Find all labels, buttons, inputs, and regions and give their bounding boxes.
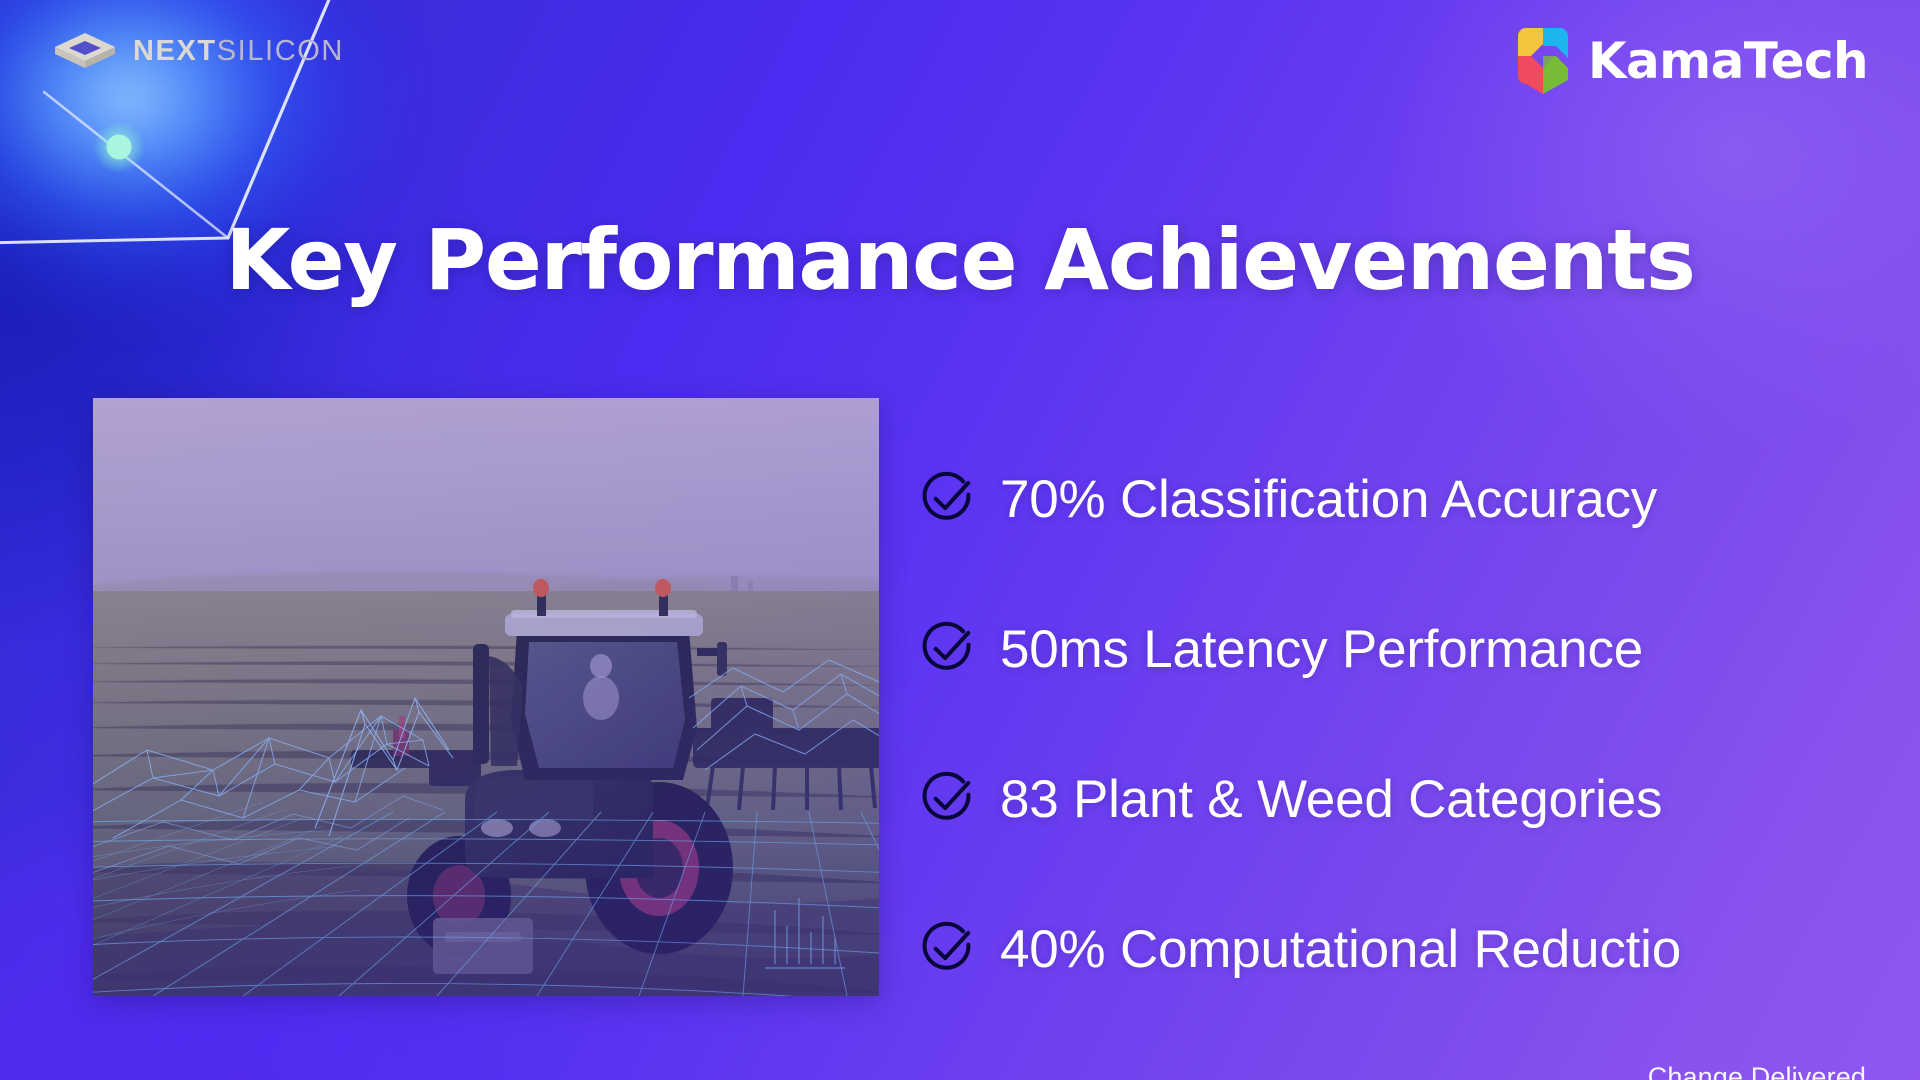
circle-check-icon bbox=[916, 917, 978, 979]
list-item[interactable]: 40% Computational Reductio bbox=[916, 875, 1920, 1025]
kamatech-wordmark: KamaTech bbox=[1588, 36, 1868, 86]
nextsilicon-word-next: NEXT bbox=[133, 35, 217, 67]
nextsilicon-logo[interactable]: NEXTSILICON bbox=[52, 30, 344, 72]
achievement-label: 70% Classification Accuracy bbox=[1000, 472, 1657, 528]
list-item[interactable]: 70% Classification Accuracy bbox=[916, 425, 1920, 575]
achievement-label: 50ms Latency Performance bbox=[1000, 622, 1643, 678]
diamond-cube-icon bbox=[52, 30, 118, 72]
list-item[interactable]: 50ms Latency Performance bbox=[916, 575, 1920, 725]
kamatech-logo[interactable]: KamaTech bbox=[1512, 22, 1868, 100]
accent-dot-glow bbox=[93, 121, 145, 173]
circle-check-icon bbox=[916, 617, 978, 679]
nextsilicon-word-silicon: SILICON bbox=[217, 35, 344, 67]
achievement-label: 40% Computational Reductio bbox=[1000, 922, 1681, 978]
achievement-label: 83 Plant & Weed Categories bbox=[1000, 772, 1662, 828]
kamatech-arrow-icon bbox=[1512, 22, 1574, 100]
tractor-field-illustration bbox=[93, 398, 879, 996]
achievements-list: 70% Classification Accuracy 50ms Latency… bbox=[916, 425, 1920, 1025]
footer-note: Change Delivered bbox=[1648, 1062, 1866, 1080]
list-item[interactable]: 83 Plant & Weed Categories bbox=[916, 725, 1920, 875]
page-title: Key Performance Achievements bbox=[0, 217, 1920, 304]
circle-check-icon bbox=[916, 767, 978, 829]
circle-check-icon bbox=[916, 467, 978, 529]
presentation-slide: NEXTSILICON KamaTech Key Performance Ach… bbox=[0, 0, 1920, 1080]
accent-dot bbox=[107, 135, 132, 160]
tractor-field-image bbox=[93, 398, 879, 996]
nextsilicon-wordmark: NEXTSILICON bbox=[133, 37, 344, 66]
